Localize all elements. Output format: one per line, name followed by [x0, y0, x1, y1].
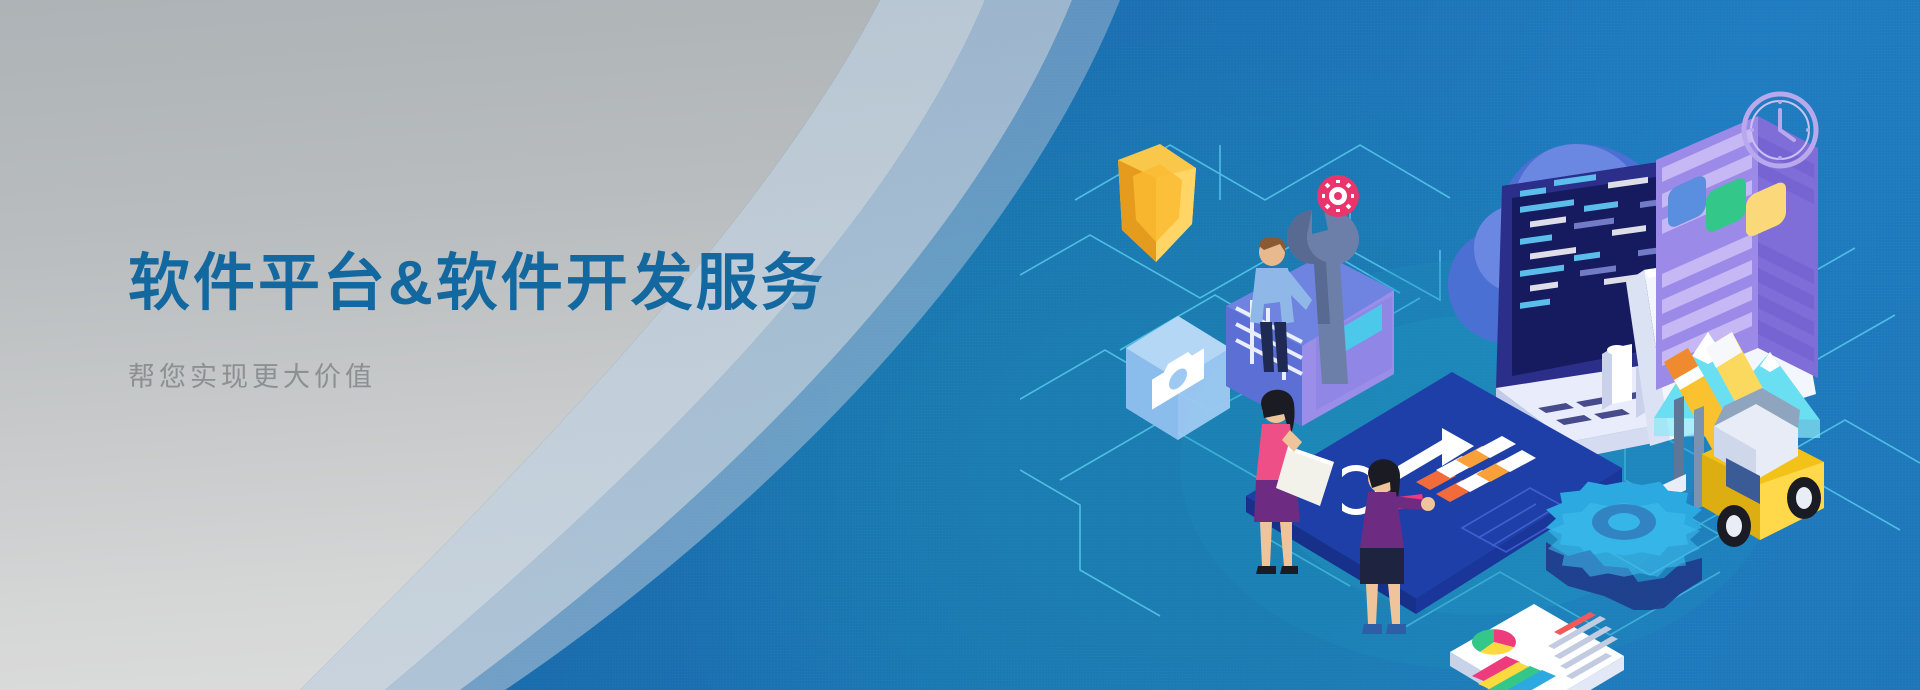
gear-cluster-icon [1524, 430, 1744, 610]
banner-subtitle: 帮您实现更大价值 [128, 355, 826, 394]
shield-icon [1100, 138, 1210, 278]
headline-block: 软件平台&软件开发服务 帮您实现更大价值 [128, 248, 826, 394]
hero-illustration [1020, 50, 1920, 690]
person-with-document [1236, 380, 1346, 580]
analytics-report-card [1438, 590, 1658, 690]
hero-banner: 软件平台&软件开发服务 帮您实现更大价值 [0, 0, 1920, 690]
banner-title: 软件平台&软件开发服务 [128, 248, 826, 319]
